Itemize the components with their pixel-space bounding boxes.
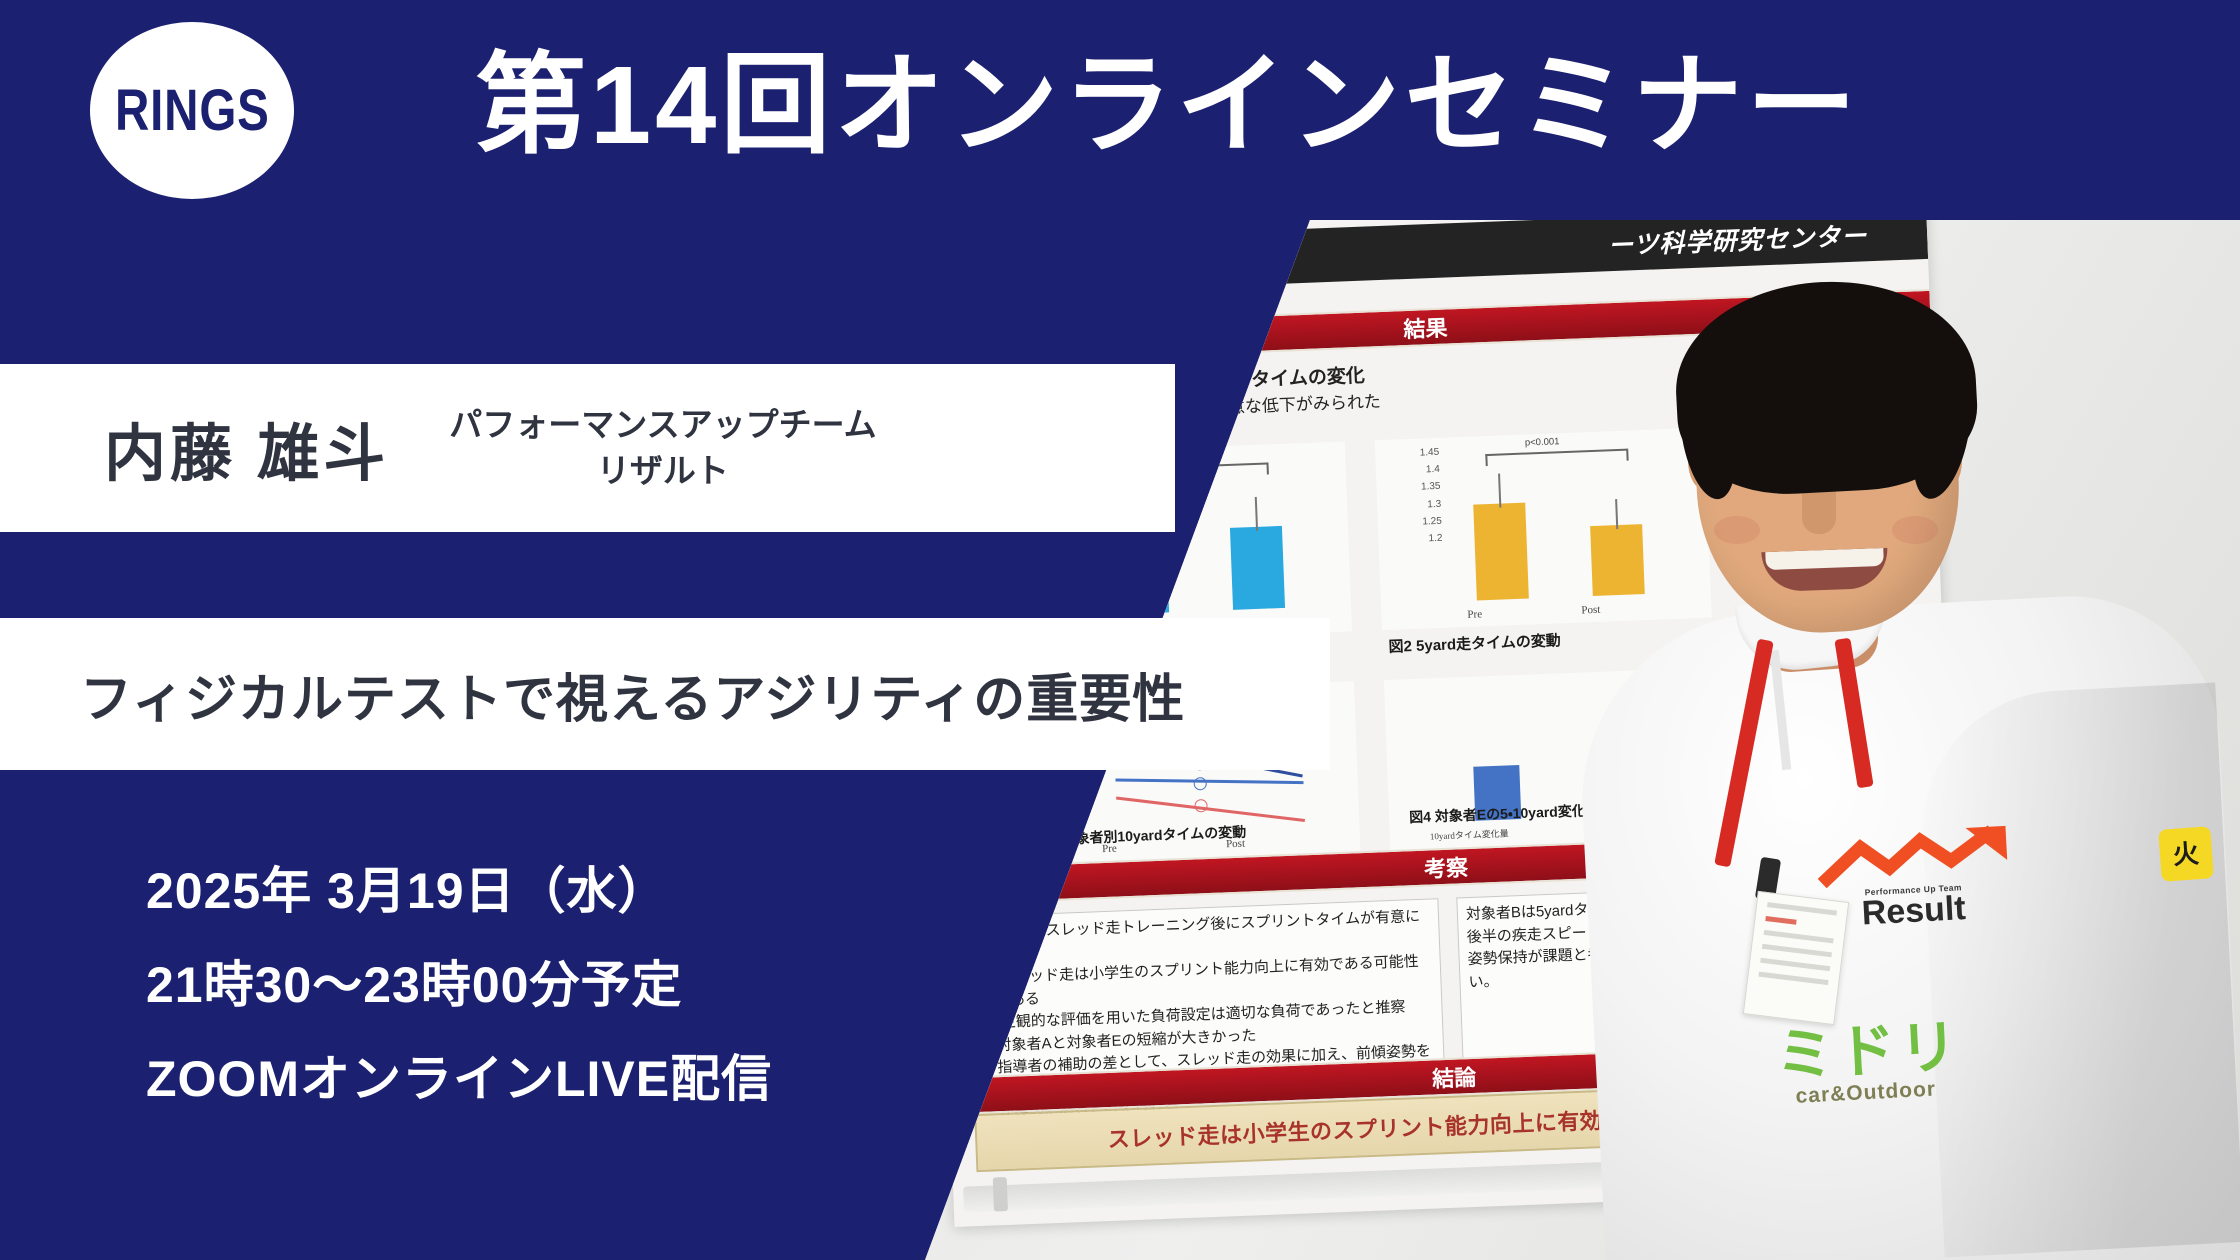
fig1-significance-tick-right (1266, 462, 1268, 474)
fig2-y-ticks: 1.451.41.351.31.251.2 (1409, 444, 1443, 548)
rings-logo: RINGS (90, 22, 294, 199)
seminar-subtitle-box: フィジカルテストで視えるアジリティの重要性 (0, 618, 1330, 770)
fig1-errorbar-post (1255, 497, 1258, 531)
event-platform: ZOOMオンラインLIVE配信 (146, 1054, 772, 1104)
midori-logo: ミドリ car&Outdoor (1774, 1012, 2078, 1110)
speaker-info-box: 内藤 雄斗 パフォーマンスアップチーム リザルト (0, 364, 1175, 532)
fig4-x-label: 10yardタイム変化量 (1430, 826, 1509, 842)
fig2-significance-tick-left (1485, 454, 1487, 466)
page-title: 第14回オンラインセミナー (476, 44, 1860, 167)
rings-logo-text: RINGS (115, 77, 270, 144)
seminar-subtitle: フィジカルテストで視えるアジリティの重要性 (80, 657, 1185, 732)
fig3-marker-3 (1194, 799, 1207, 812)
speaker-affiliation-line2: リザルト (449, 448, 876, 494)
fig1-bar-post (1230, 526, 1285, 610)
fig2-x-pre: Pre (1467, 608, 1482, 621)
sleeve-badge-mark: 火 (2172, 840, 2200, 868)
teeth (1765, 548, 1884, 570)
speaker-affiliation-line1: パフォーマンスアップチーム (449, 402, 876, 448)
speaker-figure: Performance Up Team Result ミドリ car&Outdo… (1500, 220, 2240, 1260)
result-logo: Performance Up Team Result (1816, 822, 2041, 932)
cheek-right (1892, 516, 1938, 544)
event-time: 21時30〜23時00分予定 (146, 960, 772, 1010)
event-date: 2025年 3月19日（水） (146, 866, 772, 916)
cheek-left (1714, 516, 1760, 544)
fig3-line-c (1115, 779, 1303, 784)
shoulder-shadow (1916, 683, 2240, 1258)
speaker-name: 内藤 雄斗 (104, 403, 389, 493)
fig3-marker-2 (1193, 777, 1206, 790)
speaker-affiliation: パフォーマンスアップチーム リザルト (449, 402, 876, 493)
sleeve-badge: 火 (2158, 826, 2214, 882)
fig3-line-b (1116, 797, 1305, 822)
poster-clip (993, 1177, 1008, 1212)
seminar-poster: ーツ科学研究センター 結果 レーニングのスプリントタイムの変化 ・10yard走… (0, 0, 2240, 1260)
event-details: 2025年 3月19日（水） 21時30〜23時00分予定 ZOOMオンラインL… (146, 866, 772, 1104)
